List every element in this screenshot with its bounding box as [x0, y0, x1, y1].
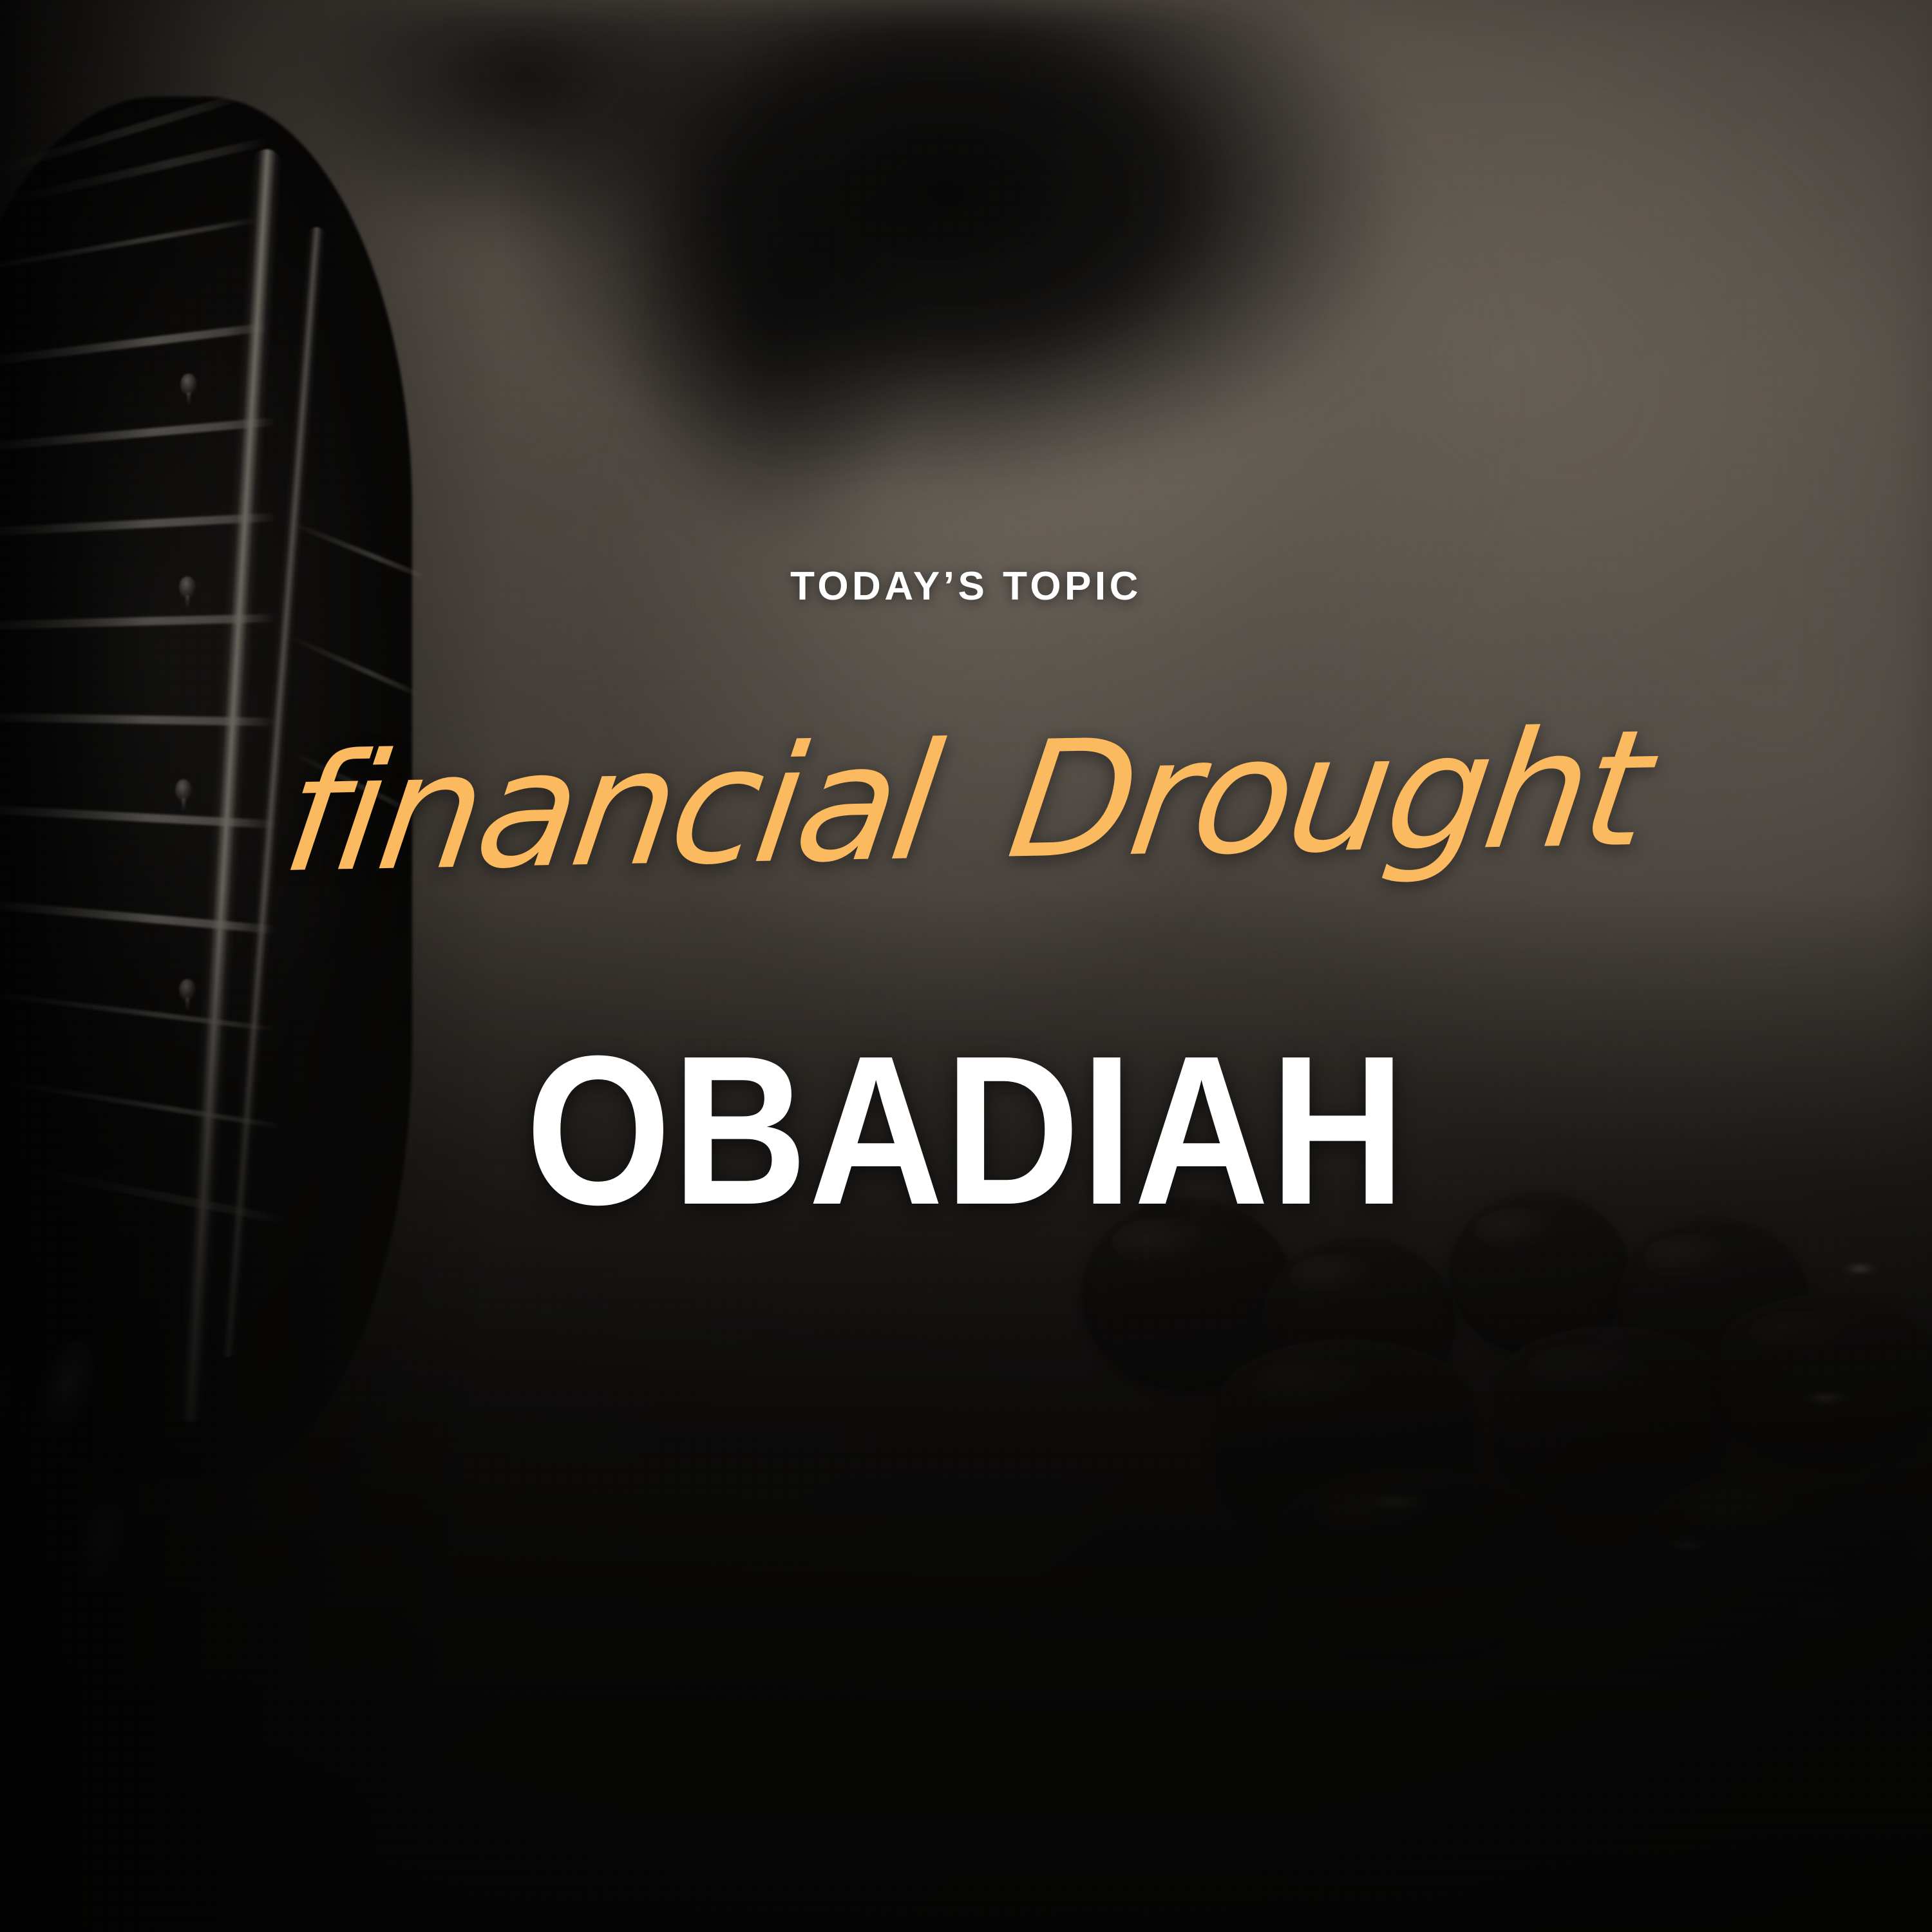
background-film-grain [0, 0, 1932, 1932]
script-word-drought: Drought [1001, 708, 1656, 882]
topic-card-canvas: TODAY’S TOPIC financial Drought OBADIAH [0, 0, 1932, 1932]
kicker-label: TODAY’S TOPIC [0, 567, 1932, 607]
book-wordmark: OBADIAH [116, 1024, 1816, 1236]
script-word-financial: financial [276, 722, 946, 895]
